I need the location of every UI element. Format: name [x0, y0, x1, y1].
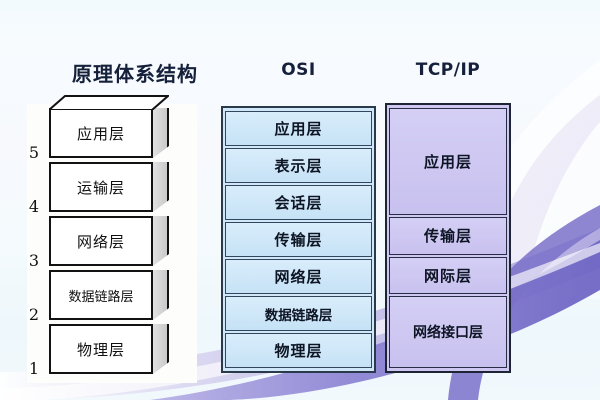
principle-layer-2: 数据链路层	[49, 270, 153, 320]
osi-layer-session: 会话层	[225, 185, 372, 220]
osi-layer-data-link: 数据链路层	[225, 296, 372, 331]
tcpip-column-title: TCP/IP	[385, 60, 511, 80]
stack-side-face-4	[153, 162, 169, 212]
tcpip-layer-network-interface: 网络接口层	[389, 296, 507, 368]
principle-layer-5-label: 应用层	[77, 123, 125, 144]
tcpip-layer-internet-label: 网际层	[424, 265, 472, 286]
osi-layer-transport: 传输层	[225, 222, 372, 257]
osi-layer-network-label: 网络层	[274, 266, 322, 287]
osi-layer-physical: 物理层	[225, 333, 372, 368]
stack-side-face-3	[153, 216, 169, 266]
osi-column-title: OSI	[221, 60, 376, 80]
principle-column-title: 原理体系结构	[45, 58, 225, 87]
stack-top-face	[49, 95, 169, 110]
osi-layer-application: 应用层	[225, 111, 372, 146]
osi-layer-physical-label: 物理层	[274, 340, 322, 361]
osi-layer-transport-label: 传输层	[274, 229, 322, 250]
principle-layer-5: 应用层	[49, 108, 153, 158]
osi-layer-presentation: 表示层	[225, 148, 372, 183]
slide-canvas: 原理体系结构 应用层 运输层 网络层 数据链路层 物理层 5	[0, 0, 600, 400]
tcpip-layer-internet: 网际层	[389, 257, 507, 294]
principle-layer-number-2: 2	[26, 305, 42, 324]
principle-layer-number-4: 4	[26, 197, 42, 216]
osi-layer-network: 网络层	[225, 259, 372, 294]
principle-layer-2-label: 数据链路层	[68, 286, 133, 305]
principle-layer-number-5: 5	[26, 143, 42, 162]
tcpip-layer-network-interface-label: 网络接口层	[413, 322, 483, 342]
tcpip-layer-application-label: 应用层	[424, 151, 472, 172]
principle-layer-4-label: 运输层	[77, 177, 125, 198]
osi-layer-session-label: 会话层	[274, 192, 322, 213]
principle-layer-3: 网络层	[49, 216, 153, 266]
osi-layer-presentation-label: 表示层	[274, 155, 322, 176]
principle-layer-number-1: 1	[26, 359, 42, 378]
principle-layer-1: 物理层	[49, 324, 153, 374]
stack-side-face-1	[153, 324, 169, 374]
tcpip-layer-transport-label: 传输层	[424, 225, 472, 246]
principle-layer-3-label: 网络层	[77, 231, 125, 252]
osi-layer-application-label: 应用层	[274, 118, 322, 139]
principle-layer-1-label: 物理层	[77, 339, 125, 360]
principle-layer-number-3: 3	[26, 251, 42, 270]
tcpip-layer-application: 应用层	[389, 108, 507, 215]
tcpip-layer-table: 应用层 传输层 网际层 网络接口层	[385, 103, 511, 373]
principle-layer-4: 运输层	[49, 162, 153, 212]
principle-3d-stack: 应用层 运输层 网络层 数据链路层 物理层	[49, 108, 169, 380]
stack-side-face-2	[153, 270, 169, 320]
osi-layer-table: 应用层 表示层 会话层 传输层 网络层 数据链路层 物理层	[221, 106, 376, 373]
tcpip-layer-transport: 传输层	[389, 217, 507, 254]
osi-layer-data-link-label: 数据链路层	[265, 304, 333, 324]
stack-side-face-5	[153, 108, 169, 158]
